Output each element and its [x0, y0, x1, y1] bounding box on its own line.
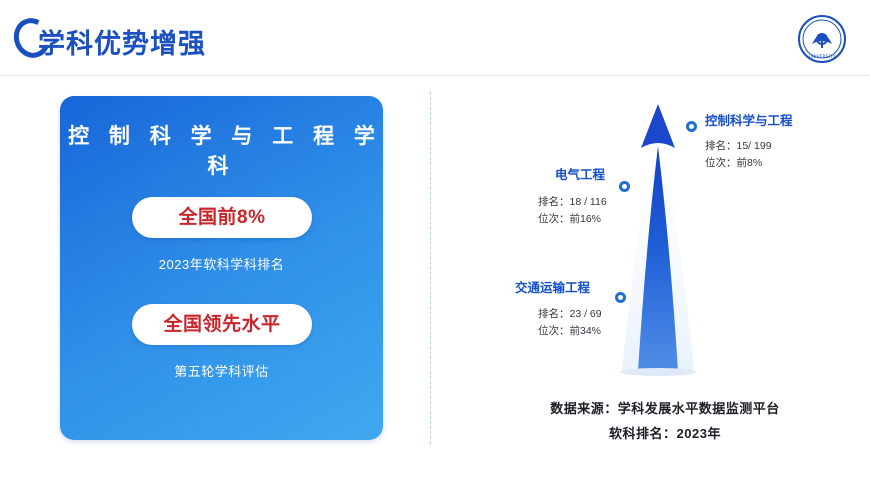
badge-label-1: 全国前8%: [132, 197, 312, 238]
section-divider: [430, 92, 431, 444]
node-label-electrical-engineering: 电气工程: [555, 164, 605, 183]
marker-electrical-engineering: [619, 181, 630, 192]
page-header: 学科优势增强 UNIVERSITY: [0, 0, 870, 76]
badge-national-leading: 全国领先水平: [132, 304, 312, 345]
node-rank-3: 排名：23 / 69: [538, 306, 602, 323]
node-label-control-science: 控制科学与工程: [705, 110, 793, 129]
node-detail-electrical-engineering: 排名：18 / 116 位次：前16%: [538, 194, 607, 228]
source-line-2: 软科排名：2023年: [470, 423, 860, 442]
svg-text:UNIVERSITY: UNIVERSITY: [809, 54, 836, 60]
node-detail-control-science: 排名：15/ 199 位次：前8%: [705, 138, 772, 172]
caption-1: 2023年软科学科排名: [60, 254, 383, 273]
card-title: 控 制 科 学 与 工 程 学 科: [60, 120, 383, 180]
discipline-card: 控 制 科 学 与 工 程 学 科 全国前8% 2023年软科学科排名 全国领先…: [60, 96, 383, 440]
node-label-transportation-engineering: 交通运输工程: [515, 277, 590, 296]
node-percentile-3: 位次：前34%: [538, 323, 602, 340]
marker-transportation-engineering: [615, 292, 626, 303]
university-emblem-icon: UNIVERSITY: [796, 14, 848, 64]
badge-label-2: 全国领先水平: [132, 304, 312, 345]
marker-control-science: [686, 121, 697, 132]
node-rank-2: 排名：18 / 116: [538, 194, 607, 211]
badge-national-top8: 全国前8%: [132, 197, 312, 238]
node-percentile-1: 位次：前8%: [705, 155, 772, 172]
caption-2: 第五轮学科评估: [60, 361, 383, 380]
node-detail-transportation-engineering: 排名：23 / 69 位次：前34%: [538, 306, 602, 340]
ranking-arrow-chart: [470, 86, 860, 416]
node-percentile-2: 位次：前16%: [538, 211, 607, 228]
header-divider: [0, 75, 870, 76]
source-line-1: 数据来源：学科发展水平数据监测平台: [470, 398, 860, 417]
page-title: 学科优势增强: [38, 22, 206, 61]
node-rank-1: 排名：15/ 199: [705, 138, 772, 155]
